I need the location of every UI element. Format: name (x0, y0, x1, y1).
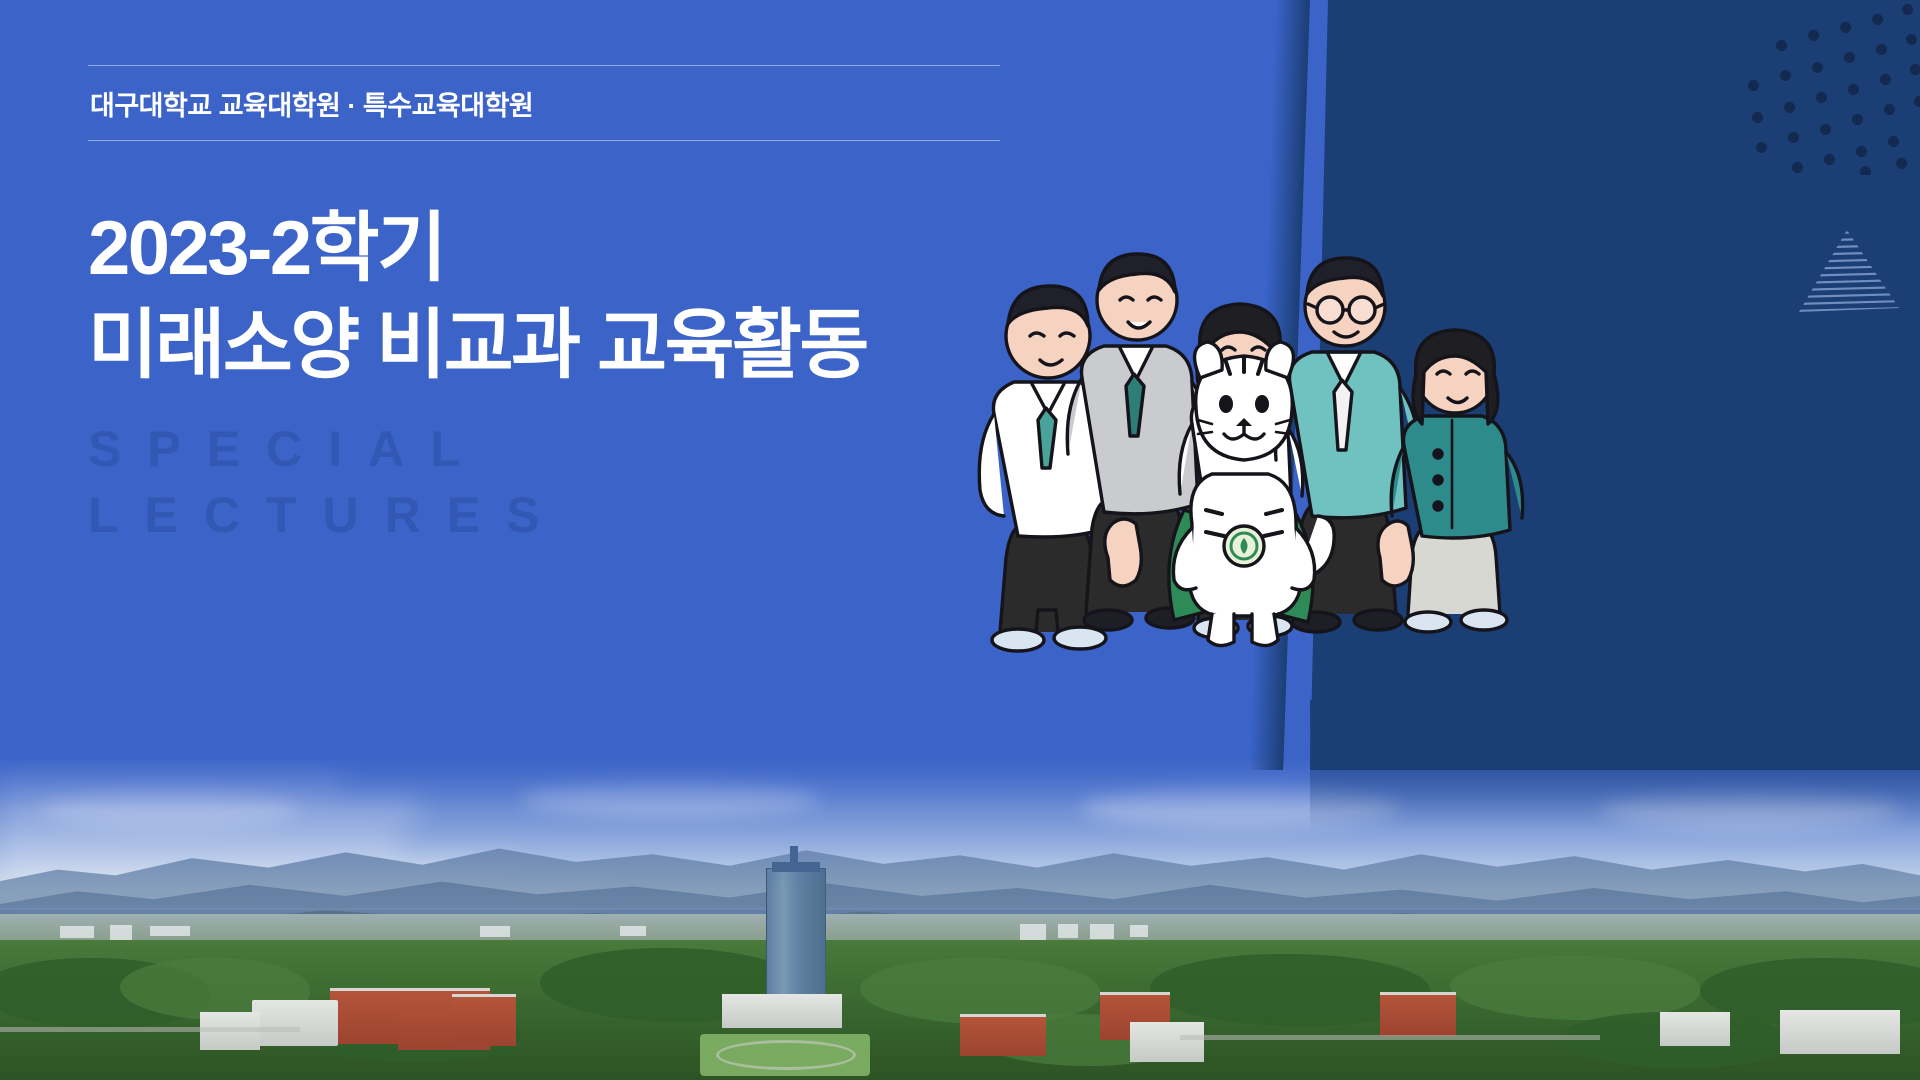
campus-building-brick (452, 994, 516, 1046)
cloud (0, 794, 420, 824)
figure-female-teal-jacket (1391, 330, 1522, 632)
distant-building (1020, 924, 1046, 940)
watermark-block: SPECIAL LECTURES (88, 416, 1088, 548)
campus-building-brick (960, 1014, 1046, 1056)
distant-building (480, 926, 510, 937)
cloud (0, 760, 340, 794)
banner-text-content: 대구대학교 교육대학원 · 특수교육대학원 2023-2학기 미래소양 비교과 … (88, 0, 1088, 548)
dot-pattern-decoration (1730, 0, 1920, 175)
campus-tower-antenna (790, 846, 798, 864)
distant-building (1130, 925, 1148, 937)
divider-bottom (88, 140, 1000, 141)
title-line-program: 미래소양 비교과 교육활동 (88, 298, 1088, 395)
striped-triangle-decoration (1795, 228, 1905, 314)
title-line-semester: 2023-2학기 (88, 201, 1088, 298)
campus-building (252, 1000, 338, 1046)
watermark-line-lectures: LECTURES (88, 482, 1088, 548)
campus-building (722, 994, 842, 1028)
distant-building (620, 926, 646, 936)
institution-label: 대구대학교 교육대학원 · 특수교육대학원 (88, 66, 1088, 140)
cloud (0, 824, 400, 856)
navy-panel-fade (1310, 700, 1920, 830)
promo-banner: 대구대학교 교육대학원 · 특수교육대학원 2023-2학기 미래소양 비교과 … (0, 0, 1920, 1080)
campus-building-brick (1380, 992, 1456, 1036)
title-block: 2023-2학기 미래소양 비교과 교육활동 (88, 201, 1088, 394)
distant-building (1090, 924, 1114, 939)
campus-building (1780, 1010, 1900, 1054)
distant-building (150, 926, 190, 936)
campus-tower (766, 868, 826, 1014)
distant-building (1058, 924, 1078, 938)
watermark-line-special: SPECIAL (88, 416, 1088, 482)
distant-building (60, 926, 94, 938)
campus-road (1180, 1035, 1600, 1040)
running-track (716, 1040, 856, 1070)
cloud (520, 780, 820, 816)
distant-building (110, 925, 132, 940)
campus-building (1660, 1012, 1730, 1046)
thumbs-up-hand-right (1378, 521, 1413, 586)
campus-building (1130, 1022, 1204, 1062)
campus-road (0, 1027, 300, 1032)
thumbs-up-hand-left (1105, 519, 1142, 586)
